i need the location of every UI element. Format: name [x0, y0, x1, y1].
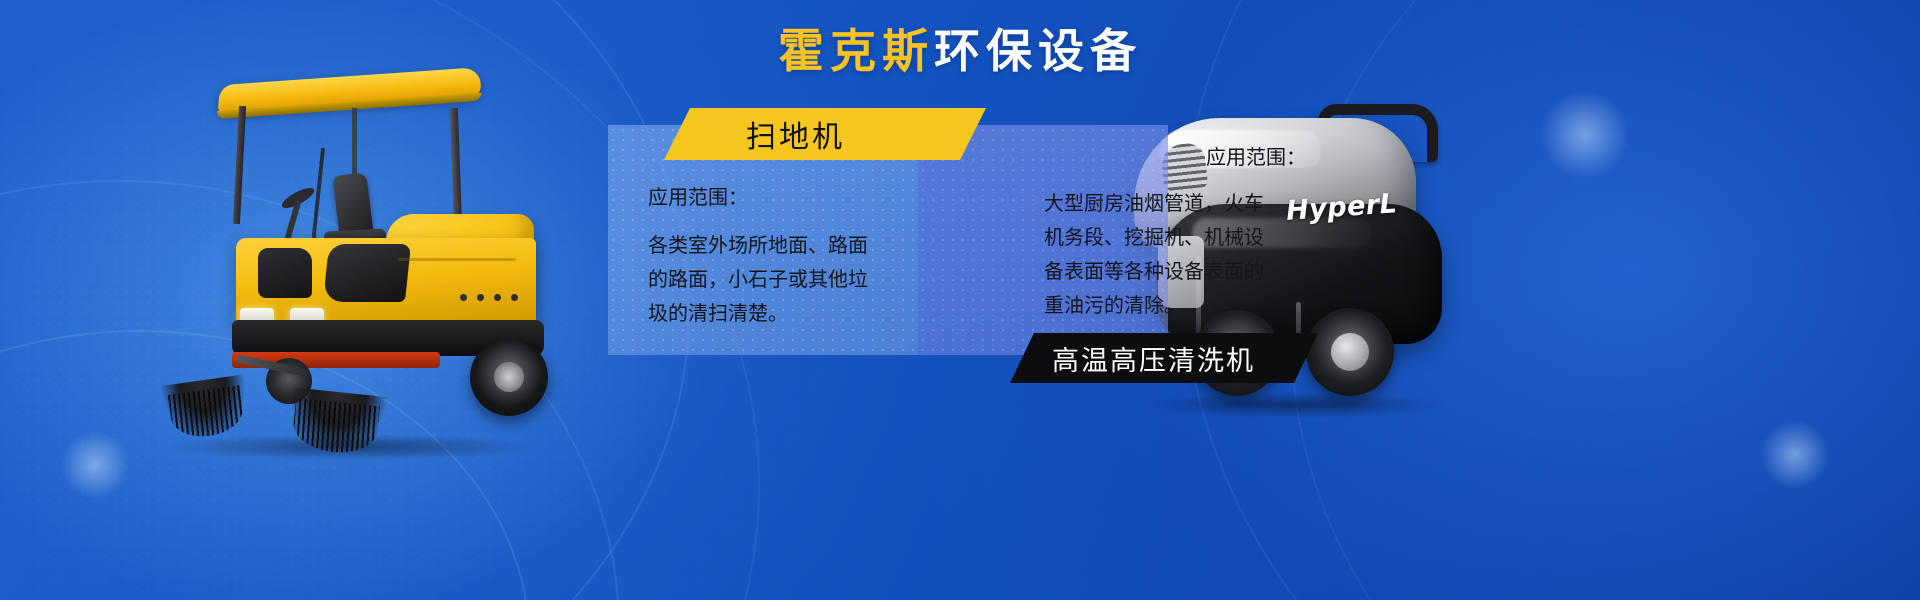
- glow-dot: [1760, 420, 1830, 490]
- sweeper-tag-label: 扫地机: [746, 112, 845, 156]
- sweeper-post: [352, 108, 357, 178]
- sweeper-side-panel: [323, 244, 411, 302]
- ground-shadow: [1146, 392, 1446, 418]
- glow-dot: [1540, 90, 1630, 180]
- sweeper-post: [450, 108, 462, 228]
- washer-desc-line: 备表面等各种设备表面的: [1044, 254, 1306, 288]
- washer-tag[interactable]: 高温高压清洗机: [1010, 333, 1318, 383]
- sweeper-desc-line: 的路面，小石子或其他垃: [648, 262, 868, 296]
- sweeper-hood-seam: [398, 258, 516, 261]
- washer-desc-line: 机务段、挖掘机、机械设: [1044, 220, 1306, 254]
- sweeper-lead-label: 应用范围：: [648, 180, 868, 214]
- headline-highlight: 霍克斯: [778, 24, 934, 78]
- washer-wheel: [1306, 308, 1394, 396]
- sweeper-side-panel: [258, 248, 312, 298]
- sweeper-desc-line: 各类室外场所地面、路面: [648, 228, 868, 262]
- washer-desc-line: 重油污的清除。: [1044, 288, 1306, 322]
- sweeper-desc-line: 圾的清扫清楚。: [648, 296, 868, 330]
- sweeper-seat-back: [332, 172, 373, 238]
- sweeper-side-brush: [161, 374, 252, 441]
- sweeper-tag[interactable]: 扫地机: [664, 108, 986, 160]
- washer-description: 应用范围： 大型厨房油烟管道，火车 机务段、挖掘机、机械设 备表面等各种设备表面…: [1042, 140, 1306, 322]
- sweeper-post: [233, 106, 246, 224]
- washer-lead-label: 应用范围：: [1206, 140, 1306, 174]
- washer-tag-label: 高温高压清洗机: [1052, 339, 1255, 378]
- sweeper-hose: [311, 148, 331, 245]
- washer-desc-line: 大型厨房油烟管道，火车: [1044, 186, 1306, 220]
- sweeper-hood-bolts: [460, 294, 520, 302]
- promo-banner: 霍克斯环保设备: [0, 0, 1920, 600]
- headline-rest: 环保设备: [934, 24, 1142, 78]
- product-image-sweeper: [140, 62, 540, 410]
- glow-dot: [60, 430, 130, 500]
- sweeper-rear-wheel: [470, 338, 548, 416]
- sweeper-description: 应用范围： 各类室外场所地面、路面 的路面，小石子或其他垃 圾的清扫清楚。: [648, 180, 868, 330]
